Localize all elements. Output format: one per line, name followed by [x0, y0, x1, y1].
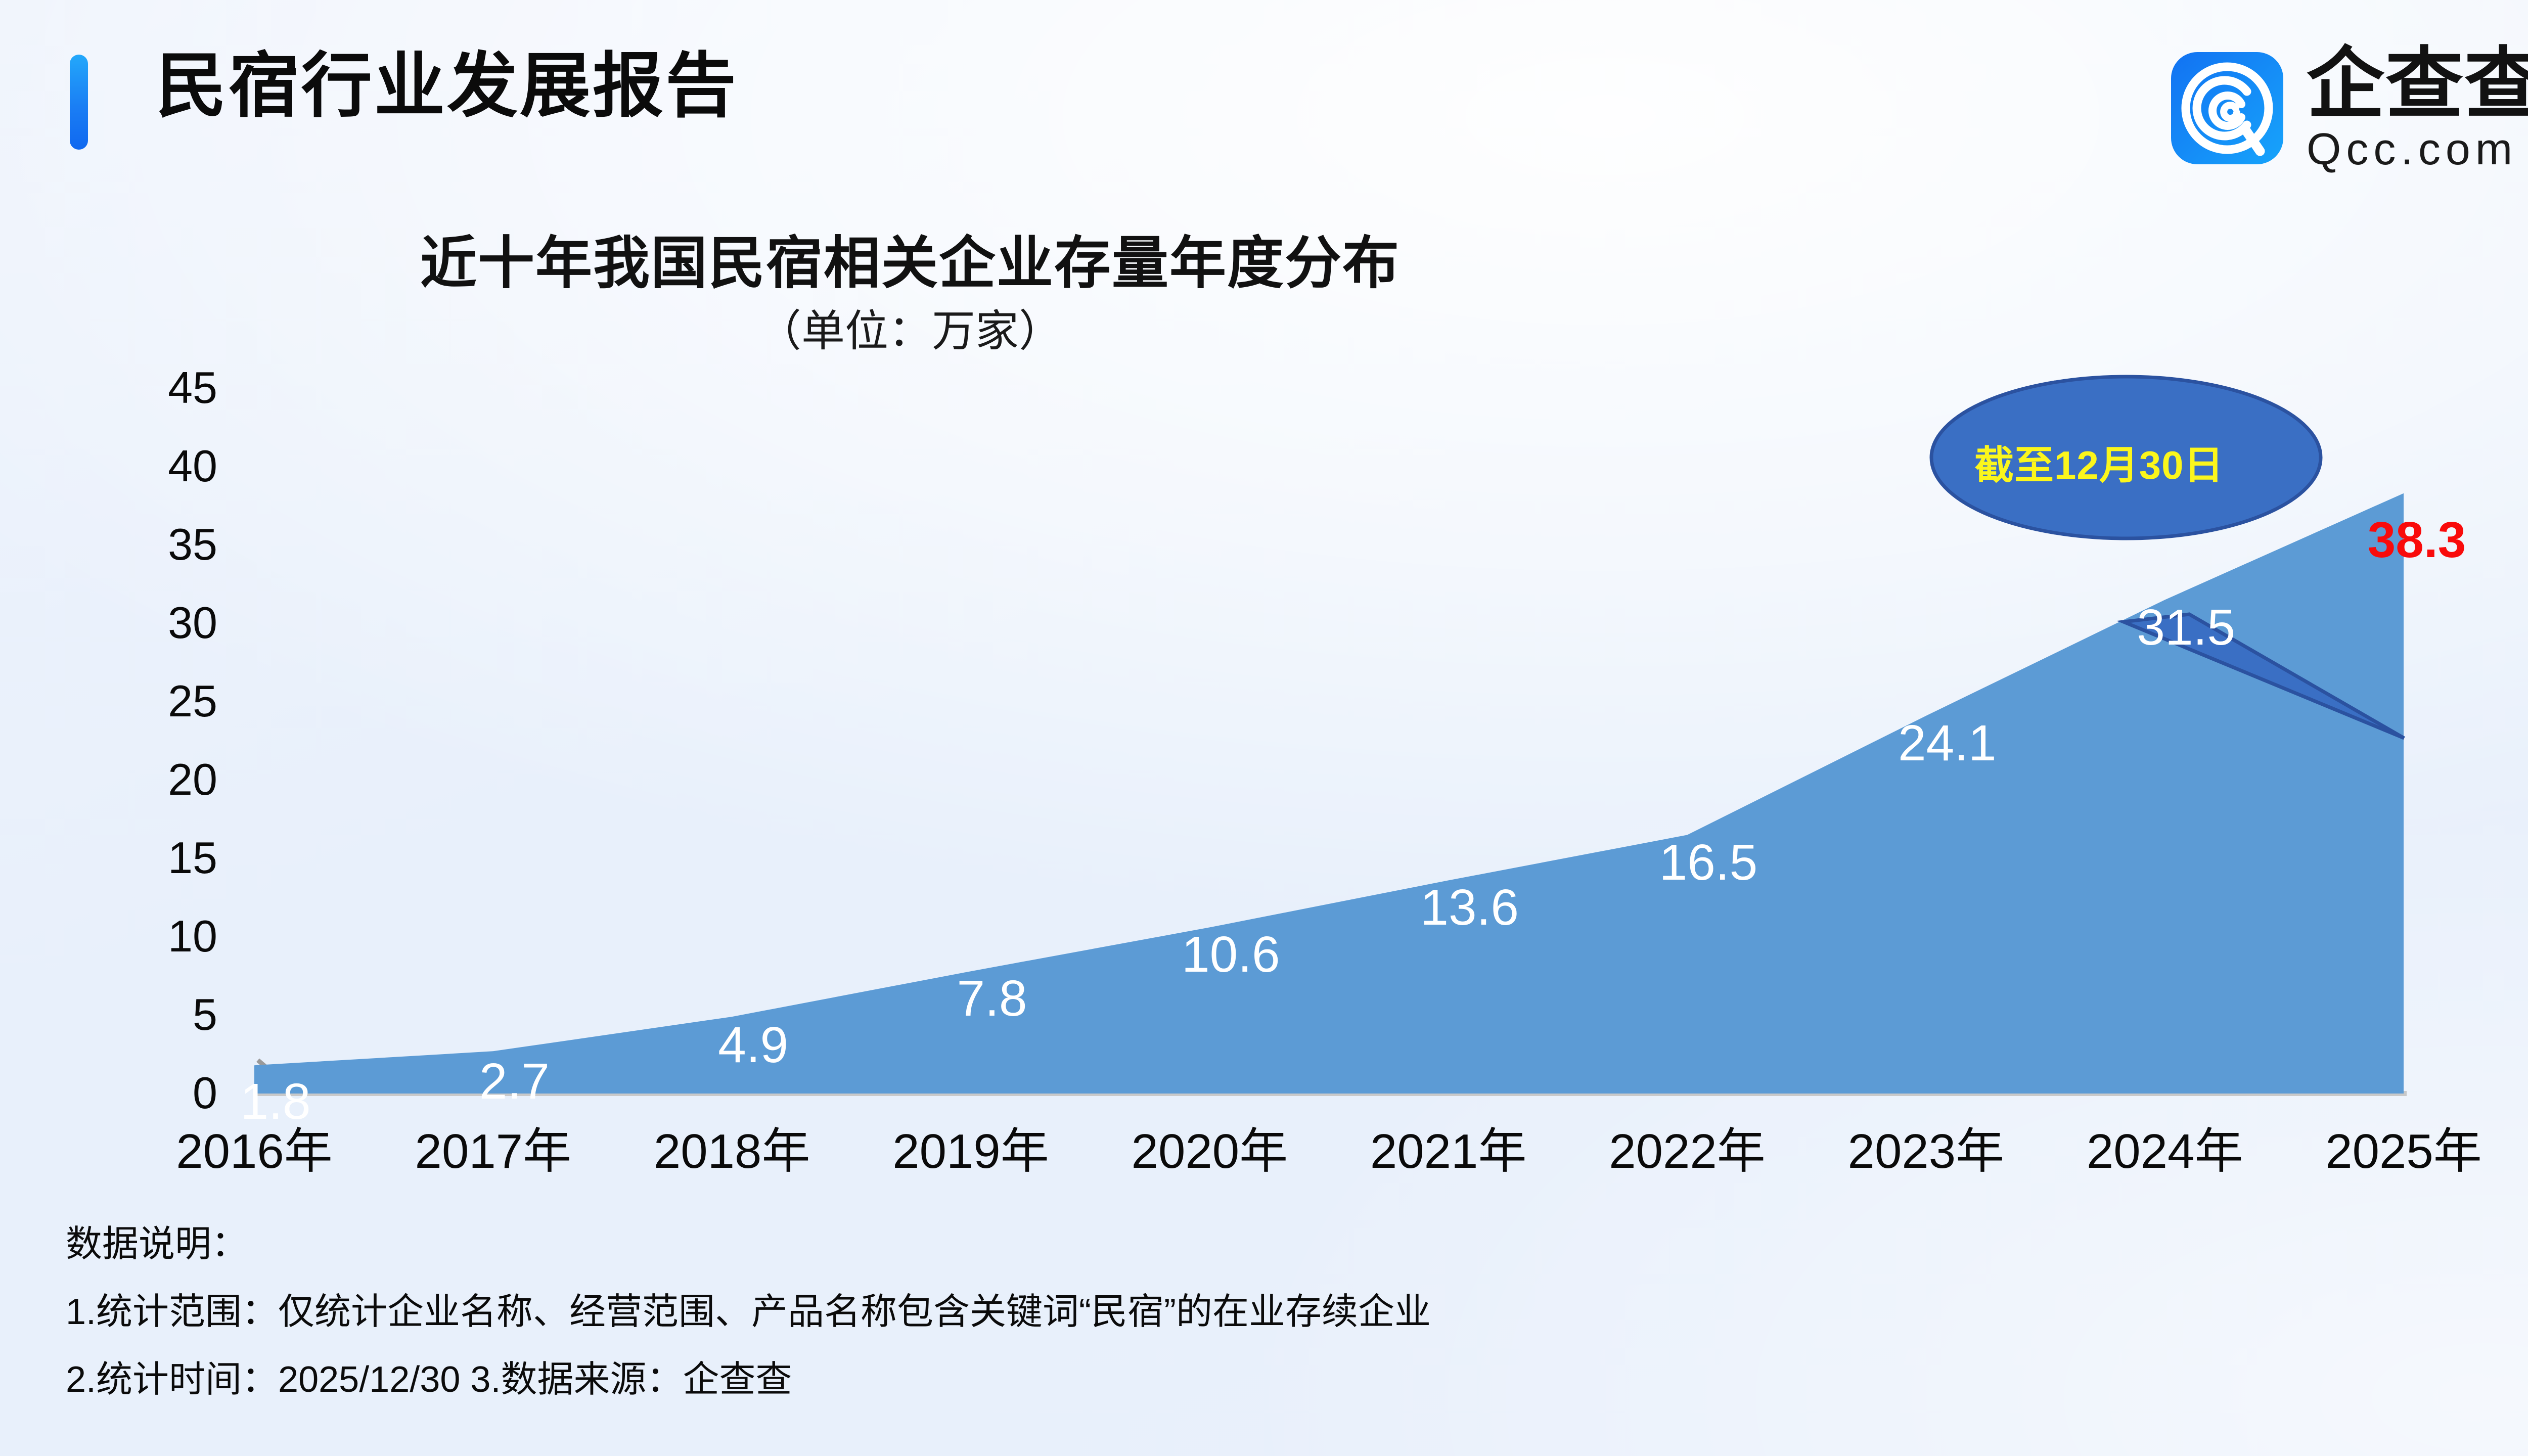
y-axis-tick: 40: [96, 444, 217, 488]
x-axis-tick: 2019年: [860, 1127, 1082, 1176]
x-axis-tick: 2021年: [1337, 1127, 1560, 1176]
data-point-label: 10.6: [1150, 929, 1312, 980]
x-axis-tick: 2025年: [2292, 1127, 2515, 1176]
x-axis-tick: 2023年: [1815, 1127, 2037, 1176]
data-point-label: 7.8: [911, 973, 1073, 1024]
x-axis-tick: 2020年: [1098, 1127, 1321, 1176]
data-point-label: 16.5: [1628, 837, 1789, 888]
x-axis-tick: 2018年: [621, 1127, 843, 1176]
notes-heading: 数据说明：: [66, 1226, 2442, 1262]
y-axis-tick: 35: [96, 522, 217, 567]
y-axis-tick: 25: [96, 679, 217, 723]
x-axis-tick: 2016年: [143, 1127, 366, 1176]
data-notes: 数据说明： 1.统计范围：仅统计企业名称、经营范围、产品名称包含关键词“民宿”的…: [66, 1226, 2442, 1398]
y-axis-tick: 30: [96, 601, 217, 645]
y-axis-tick: 5: [96, 992, 217, 1037]
data-point-label: 1.8: [195, 1076, 356, 1127]
x-axis-tick: 2017年: [382, 1127, 604, 1176]
y-axis-tick: 15: [96, 836, 217, 880]
data-point-label: 38.3: [2336, 515, 2498, 565]
notes-line-1: 1.统计范围：仅统计企业名称、经营范围、产品名称包含关键词“民宿”的在业存续企业: [66, 1294, 2442, 1330]
data-point-label: 4.9: [672, 1020, 834, 1070]
data-point-label: 31.5: [2105, 602, 2267, 653]
x-axis-tick: 2024年: [2054, 1127, 2276, 1176]
y-axis-tick: 10: [96, 914, 217, 959]
x-axis-tick: 2022年: [1576, 1127, 1798, 1176]
notes-line-2: 2.统计时间：2025/12/30 3.数据来源：企查查: [66, 1361, 2442, 1398]
data-point-label: 24.1: [1866, 718, 2028, 768]
y-axis-tick: 20: [96, 757, 217, 802]
area-series-fill: [254, 493, 2404, 1094]
annotation-label: 截至12月30日: [1974, 434, 2224, 490]
data-point-label: 13.6: [1389, 882, 1551, 933]
y-axis-tick: 45: [96, 366, 217, 410]
data-point-label: 2.7: [433, 1056, 595, 1107]
